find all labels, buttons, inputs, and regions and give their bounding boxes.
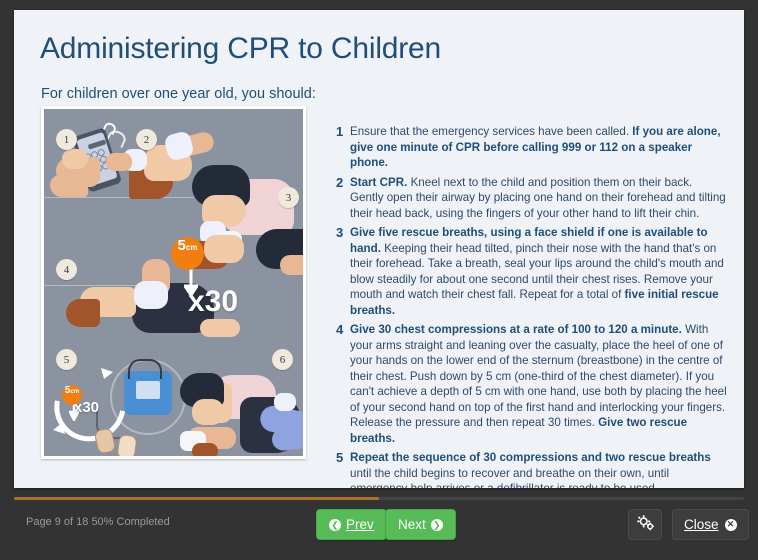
page-title: Administering CPR to Children bbox=[40, 32, 441, 66]
course-player: Administering CPR to Children For childr… bbox=[0, 0, 758, 560]
depth-unit: cm bbox=[186, 243, 198, 252]
close-button-label: Close bbox=[684, 517, 719, 532]
next-button[interactable]: Next ❯ bbox=[385, 509, 456, 540]
child-hair bbox=[66, 299, 100, 327]
instruction-step: 4 Give 30 chest compressions at a rate o… bbox=[336, 322, 728, 446]
rescuer-arm bbox=[280, 255, 306, 275]
child-sock bbox=[274, 393, 296, 411]
chevron-right-circle-icon: ❯ bbox=[431, 519, 443, 531]
illustration-step-6: 6 bbox=[272, 349, 293, 370]
chevron-left-circle-icon: ❮ bbox=[329, 519, 341, 531]
illustration-step-1: 1 bbox=[56, 129, 77, 150]
step-text: Start CPR. Kneel next to the child and p… bbox=[350, 175, 728, 222]
cycle-arrow-head bbox=[52, 421, 66, 440]
illustration-step-5: 5 bbox=[56, 349, 77, 370]
instruction-steps-list: 1 Ensure that the emergency services hav… bbox=[336, 124, 728, 488]
child-head bbox=[204, 235, 244, 263]
defibrillator-screen bbox=[136, 381, 160, 399]
illustration-step-3: 3 bbox=[278, 187, 299, 208]
step-text: Give 30 chest compressions at a rate of … bbox=[350, 322, 728, 446]
step-number: 4 bbox=[336, 322, 350, 446]
step-number: 3 bbox=[336, 225, 350, 318]
page-subtitle: For children over one year old, you shou… bbox=[41, 86, 316, 102]
close-button[interactable]: Close ✕ bbox=[672, 509, 749, 540]
forearm bbox=[50, 175, 88, 197]
prev-button-label: Prev bbox=[346, 517, 374, 532]
illustration-step-2: 2 bbox=[136, 129, 157, 150]
illustration-step-4: 4 bbox=[56, 259, 77, 280]
depth-value: 5 bbox=[178, 237, 186, 254]
rescuer-arm bbox=[106, 153, 132, 171]
child-head bbox=[192, 399, 224, 425]
player-footer: Page 9 of 18 50% Completed ❮ Prev Next ❯ bbox=[0, 501, 758, 560]
step-text: Ensure that the emergency services have … bbox=[350, 124, 728, 171]
step-text: Give five rescue breaths, using a face s… bbox=[350, 225, 728, 318]
fingers bbox=[62, 149, 88, 169]
gloved-hand bbox=[134, 281, 168, 309]
progress-bar-fill bbox=[14, 497, 379, 500]
instruction-step: 5 Repeat the sequence of 30 compressions… bbox=[336, 450, 728, 488]
instruction-step: 3 Give five rescue breaths, using a face… bbox=[336, 225, 728, 318]
slide-card: Administering CPR to Children For childr… bbox=[14, 10, 744, 488]
depth-unit: cm bbox=[70, 389, 79, 395]
settings-button[interactable] bbox=[628, 509, 662, 540]
instruction-step: 2 Start CPR. Kneel next to the child and… bbox=[336, 175, 728, 222]
repeat-count-label: x30 bbox=[74, 399, 99, 416]
page-status-text: Page 9 of 18 50% Completed bbox=[26, 516, 170, 528]
step-number: 2 bbox=[336, 175, 350, 222]
gear-icon bbox=[637, 515, 654, 535]
defibrillator-pad bbox=[116, 434, 137, 459]
cpr-illustration: 5cm x30 5cm x30 bbox=[41, 106, 306, 459]
close-circle-icon: ✕ bbox=[725, 519, 737, 531]
defibrillator-handle bbox=[128, 359, 162, 379]
step-number: 1 bbox=[336, 124, 350, 171]
panel-divider bbox=[44, 197, 194, 198]
prev-button[interactable]: ❮ Prev bbox=[316, 509, 387, 540]
step-number: 5 bbox=[336, 450, 350, 488]
progress-bar-track[interactable] bbox=[14, 497, 744, 500]
next-button-label: Next bbox=[398, 517, 426, 532]
child-arm bbox=[200, 319, 240, 337]
step-text: Repeat the sequence of 30 compressions a… bbox=[350, 450, 728, 488]
depth-badge-5cm: 5cm bbox=[171, 237, 204, 270]
child-hair-strand bbox=[192, 443, 218, 459]
repeat-count-label: x30 bbox=[188, 285, 238, 319]
instruction-step: 1 Ensure that the emergency services hav… bbox=[336, 124, 728, 171]
